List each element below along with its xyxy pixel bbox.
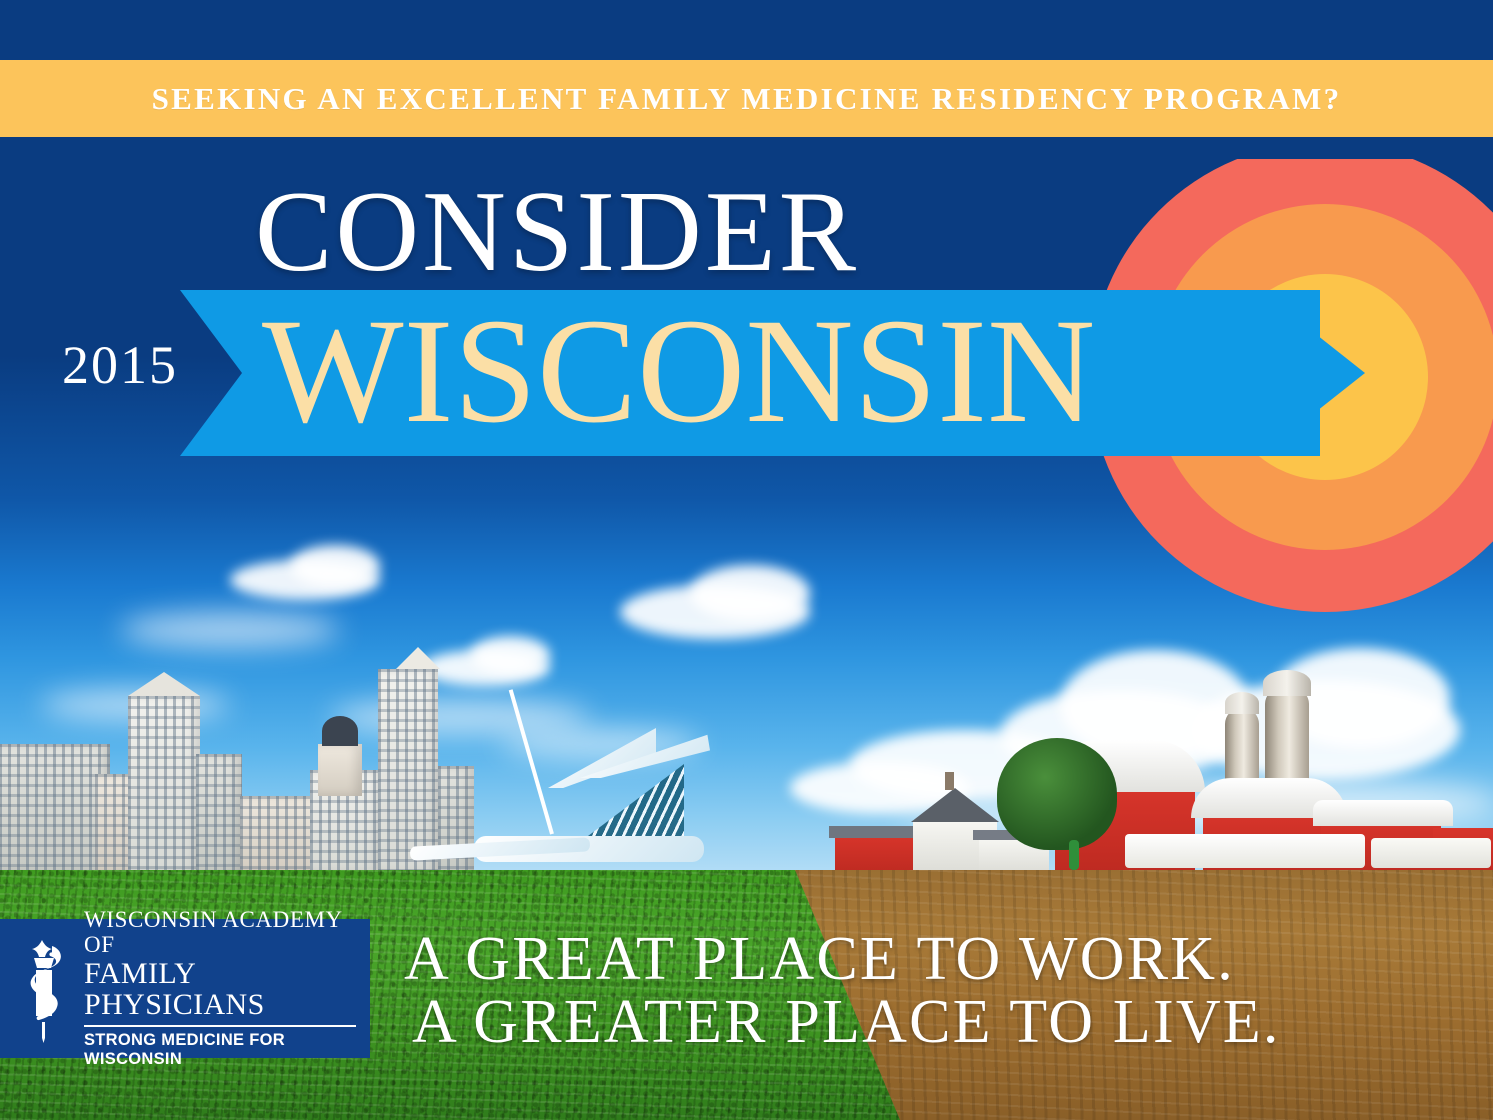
headline-banner-text: WISCONSIN: [262, 296, 1095, 446]
navy-underbar: [0, 137, 1493, 159]
kicker-text: SEEKING AN EXCELLENT FAMILY MEDICINE RES…: [0, 81, 1493, 117]
cloud-icon: [120, 612, 340, 648]
building-spire: [128, 672, 200, 696]
top-navy-bar: [0, 0, 1493, 60]
silo-cap: [1263, 670, 1311, 696]
poster-tagline: A GREAT PLACE TO WORK. A GREATER PLACE T…: [404, 928, 1464, 1054]
logo-line-1: WISCONSIN ACADEMY OF: [84, 908, 370, 958]
cloud-icon: [290, 545, 380, 587]
farm-scene: [773, 684, 1493, 874]
machine-shed: [1371, 838, 1491, 868]
farm-equipment: [1069, 840, 1079, 870]
silo-cap: [1225, 692, 1259, 714]
tree: [997, 738, 1117, 850]
logo-line-2: FAMILY PHYSICIANS: [84, 958, 370, 1021]
building-spire: [396, 647, 440, 669]
chimney: [945, 772, 954, 790]
logo-tagline: STRONG MEDICINE FOR WISCONSIN: [84, 1031, 370, 1069]
building-tower: [318, 744, 362, 796]
building-dome: [322, 716, 358, 746]
year-label: 2015: [62, 338, 178, 392]
consider-wisconsin-poster: SEEKING AN EXCELLENT FAMILY MEDICINE RES…: [0, 0, 1493, 1120]
page-title: CONSIDER: [255, 174, 859, 290]
barn-roof: [1313, 800, 1453, 826]
logo-wordmark: WISCONSIN ACADEMY OF FAMILY PHYSICIANS S…: [84, 908, 370, 1069]
tagline-line-1: A GREAT PLACE TO WORK.: [404, 928, 1464, 991]
cloud-icon: [690, 565, 810, 621]
logo-divider: [84, 1025, 356, 1027]
museum-mast: [509, 689, 554, 834]
kicker-band: SEEKING AN EXCELLENT FAMILY MEDICINE RES…: [0, 60, 1493, 137]
rod-of-asclepius-icon: [8, 934, 80, 1044]
organization-logo: WISCONSIN ACADEMY OF FAMILY PHYSICIANS S…: [0, 919, 370, 1058]
farmhouse-roof: [911, 788, 999, 822]
shed: [835, 834, 921, 874]
tagline-line-2: A GREATER PLACE TO LIVE.: [404, 991, 1464, 1054]
machine-shed: [1125, 834, 1365, 868]
